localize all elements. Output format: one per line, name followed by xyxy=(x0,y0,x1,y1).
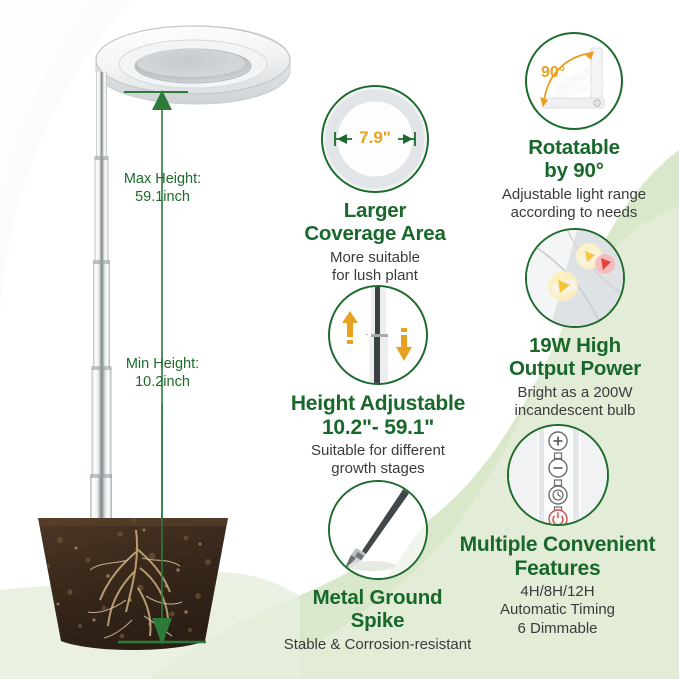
title-line-1: 19W High xyxy=(470,335,679,358)
feature-sub-multiple-convenient-features: 4H/8H/12H Automatic Timing 6 Dimmable xyxy=(435,583,679,638)
sub-line-1: Bright as a 200W xyxy=(470,384,679,402)
title-line-1: Larger xyxy=(265,200,485,223)
title-line-2: Output Power xyxy=(470,358,679,381)
sub-line-2: incandescent bulb xyxy=(470,402,679,420)
feature-sub-larger-coverage-area: More suitable for lush plant xyxy=(265,249,485,286)
max-height-measure xyxy=(124,90,188,520)
feature-title-larger-coverage-area: Larger Coverage Area xyxy=(265,200,485,246)
feature-sub-metal-ground-spike: Stable & Corrosion-resistant xyxy=(255,636,500,654)
feature-title-multiple-convenient-features: Multiple Convenient Features xyxy=(435,533,679,580)
plant-pot-soil-icon xyxy=(38,517,228,650)
product-infographic: Max Height: 59.1inch Min Height: 10.2inc… xyxy=(0,0,679,679)
title-line-1: Height Adjustable xyxy=(258,392,498,416)
rotation-angle-badge: 90° xyxy=(541,64,565,82)
sub-line-1: Stable & Corrosion-resistant xyxy=(255,636,500,654)
sub-line-1: Adjustable light range xyxy=(468,186,679,204)
arrow-down-icon xyxy=(396,328,412,361)
coverage-diameter-badge: 7.9" xyxy=(323,128,427,148)
led-red xyxy=(595,254,615,274)
max-height-label: Max Height: 59.1inch xyxy=(90,170,235,206)
up-down-arrows-icon xyxy=(328,285,428,385)
timer-button xyxy=(549,486,567,504)
feature-title-19w-high-output-power: 19W High Output Power xyxy=(470,335,679,381)
feature-rotatable-by-90: 90° Rotatable by 90° Adjustable light ra… xyxy=(468,32,679,223)
min-height-label: Min Height: 10.2inch xyxy=(90,355,235,391)
feature-title-rotatable-by-90: Rotatable by 90° xyxy=(468,137,679,183)
sub-line-2: Automatic Timing xyxy=(435,601,679,619)
spike-tip-icon xyxy=(328,480,428,580)
feature-multiple-convenient-features: Multiple Convenient Features 4H/8H/12H A… xyxy=(435,424,679,638)
spike-tip-svg xyxy=(330,482,426,578)
max-height-line2: 59.1inch xyxy=(90,188,235,206)
sub-line-2: according to needs xyxy=(468,204,679,222)
ring-diameter-icon: 7.9" xyxy=(321,85,429,193)
title-line-2: by 90° xyxy=(468,160,679,183)
title-line-2: Coverage Area xyxy=(265,223,485,246)
title-line-1: Multiple Convenient xyxy=(435,533,679,557)
minus-button xyxy=(549,459,567,477)
power-button xyxy=(549,510,567,524)
up-down-arrows-svg xyxy=(330,287,426,383)
control-buttons-icon xyxy=(507,424,609,526)
title-line-2: Features xyxy=(435,557,679,581)
sub-line-3: 6 Dimmable xyxy=(435,620,679,638)
max-height-line1: Max Height: xyxy=(90,170,235,188)
feature-sub-rotatable-by-90: Adjustable light range according to need… xyxy=(468,186,679,223)
sub-line-2: for lush plant xyxy=(265,267,485,285)
sub-line-1: More suitable xyxy=(265,249,485,267)
sub-line-1: 4H/8H/12H xyxy=(435,583,679,601)
min-height-line2: 10.2inch xyxy=(90,373,235,391)
rotation-angle-icon: 90° xyxy=(525,32,623,130)
led-warm-2 xyxy=(548,271,578,301)
led-chip-icon xyxy=(525,228,625,328)
feature-19w-high-output-power: 19W High Output Power Bright as a 200W i… xyxy=(470,228,679,421)
feature-larger-coverage-area: 7.9" Larger Coverage Area More suitable … xyxy=(265,85,485,286)
plus-button xyxy=(549,432,567,450)
title-line-1: Rotatable xyxy=(468,137,679,160)
min-height-line1: Min Height: xyxy=(90,355,235,373)
feature-sub-19w-high-output-power: Bright as a 200W incandescent bulb xyxy=(470,384,679,421)
arrow-up-icon xyxy=(342,311,358,344)
control-buttons-svg xyxy=(509,426,607,524)
led-chip-svg xyxy=(527,230,623,326)
